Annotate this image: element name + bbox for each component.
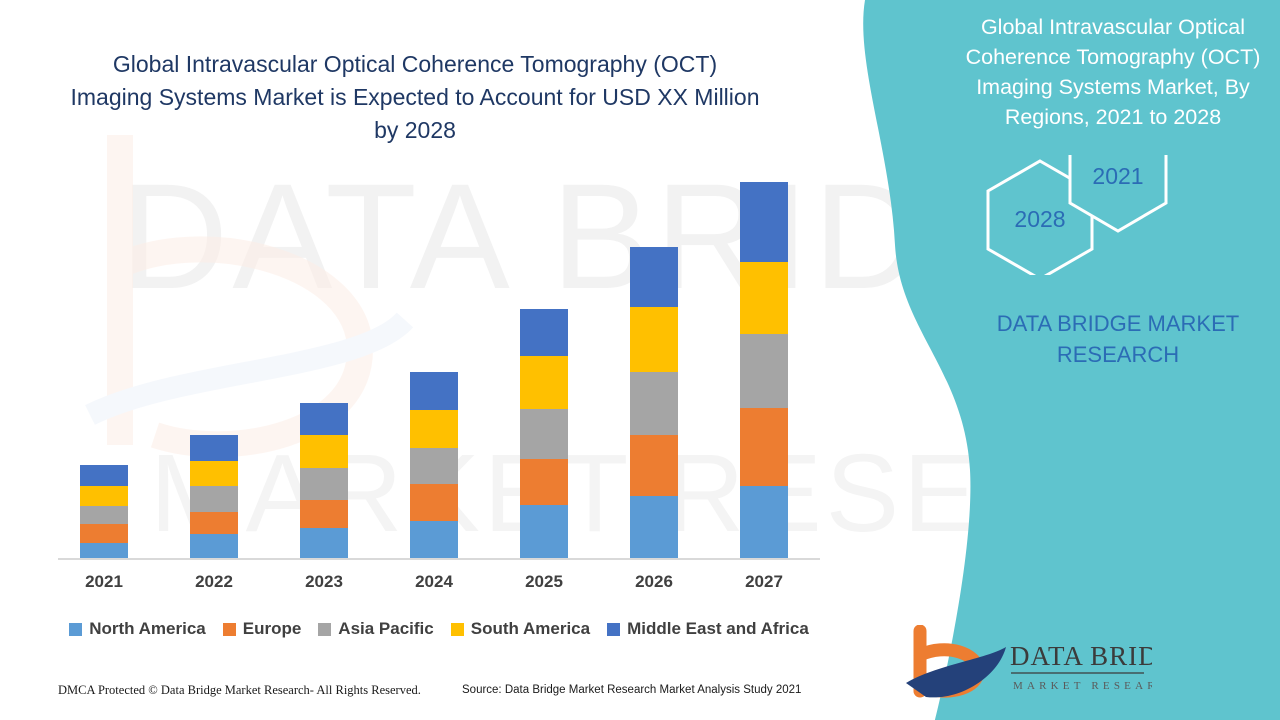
bar-2021 [80,465,128,559]
legend-label: South America [471,619,590,639]
svg-text:MARKET RESEARCH: MARKET RESEARCH [1013,680,1152,692]
legend-label: North America [89,619,206,639]
bar-segment [190,534,238,559]
legend-swatch-icon [451,623,464,636]
bar-segment [300,500,348,529]
hexagon-year-badges: 2028 2021 [970,155,1270,275]
bar-segment [300,403,348,435]
bar-segment [80,543,128,559]
stacked-bar-chart [58,170,820,559]
legend-item[interactable]: South America [451,619,590,639]
right-panel-content: Global Intravascular Optical Coherence T… [840,0,1280,720]
hexagon-2021-label: 2021 [1092,163,1143,189]
x-axis-label-2022: 2022 [169,572,259,592]
x-axis-labels: 2021202220232024202520262027 [58,572,820,600]
bar-2025 [520,309,568,559]
bar-segment [410,410,458,449]
legend-swatch-icon [318,623,331,636]
bar-segment [80,486,128,505]
legend-swatch-icon [223,623,236,636]
legend-item[interactable]: Asia Pacific [318,619,433,639]
bar-segment [190,461,238,487]
bar-2022 [190,435,238,559]
bar-segment [80,465,128,487]
x-axis-label-2026: 2026 [609,572,699,592]
brand-name: DATA BRIDGE MARKET RESEARCH [968,308,1268,370]
legend-swatch-icon [69,623,82,636]
legend-label: Asia Pacific [338,619,433,639]
bar-segment [80,524,128,542]
bar-2027 [740,182,788,559]
bar-2023 [300,403,348,559]
x-axis-label-2023: 2023 [279,572,369,592]
bar-segment [520,505,568,559]
bar-segment [740,408,788,487]
bar-segment [630,307,678,371]
bar-segment [740,182,788,262]
infographic-canvas: DATA BRIDGE MARKET RESEARCH Global Intra… [0,0,1280,720]
x-axis-label-2021: 2021 [59,572,149,592]
legend-item[interactable]: Europe [223,619,302,639]
x-axis-label-2025: 2025 [499,572,589,592]
x-axis-label-2027: 2027 [719,572,809,592]
legend-item[interactable]: North America [69,619,206,639]
bar-segment [80,506,128,524]
legend-swatch-icon [607,623,620,636]
bar-segment [520,459,568,505]
bar-segment [630,496,678,559]
footer-source: Source: Data Bridge Market Research Mark… [462,684,801,696]
right-panel-title: Global Intravascular Optical Coherence T… [958,12,1268,132]
x-axis-line [58,558,820,560]
bar-segment [190,435,238,461]
bar-segment [190,486,238,512]
bar-segment [520,356,568,408]
legend-label: Middle East and Africa [627,619,809,639]
bar-2024 [410,372,458,559]
main-title: Global Intravascular Optical Coherence T… [70,48,760,147]
bar-segment [740,334,788,408]
bar-segment [300,435,348,468]
bar-2026 [630,247,678,559]
bar-segment [410,521,458,559]
svg-text:DATA BRIDGE: DATA BRIDGE [1010,641,1152,671]
bar-segment [520,309,568,356]
bar-segment [410,372,458,410]
chart-legend: North AmericaEuropeAsia PacificSouth Ame… [58,616,820,642]
bar-segment [190,512,238,535]
data-bridge-logo-icon: DATA BRIDGE MARKET RESEARCH [902,625,1152,701]
legend-label: Europe [243,619,302,639]
bar-segment [630,435,678,495]
footer-copyright: DMCA Protected © Data Bridge Market Rese… [58,683,421,698]
bar-segment [630,372,678,435]
hexagon-2028-label: 2028 [1014,206,1065,232]
bar-segment [300,468,348,500]
bar-segment [520,409,568,459]
bar-segment [740,262,788,334]
bar-segment [300,528,348,559]
bar-segment [410,484,458,521]
x-axis-label-2024: 2024 [389,572,479,592]
legend-item[interactable]: Middle East and Africa [607,619,809,639]
bar-segment [410,448,458,484]
bar-segment [740,486,788,559]
bar-segment [630,247,678,307]
